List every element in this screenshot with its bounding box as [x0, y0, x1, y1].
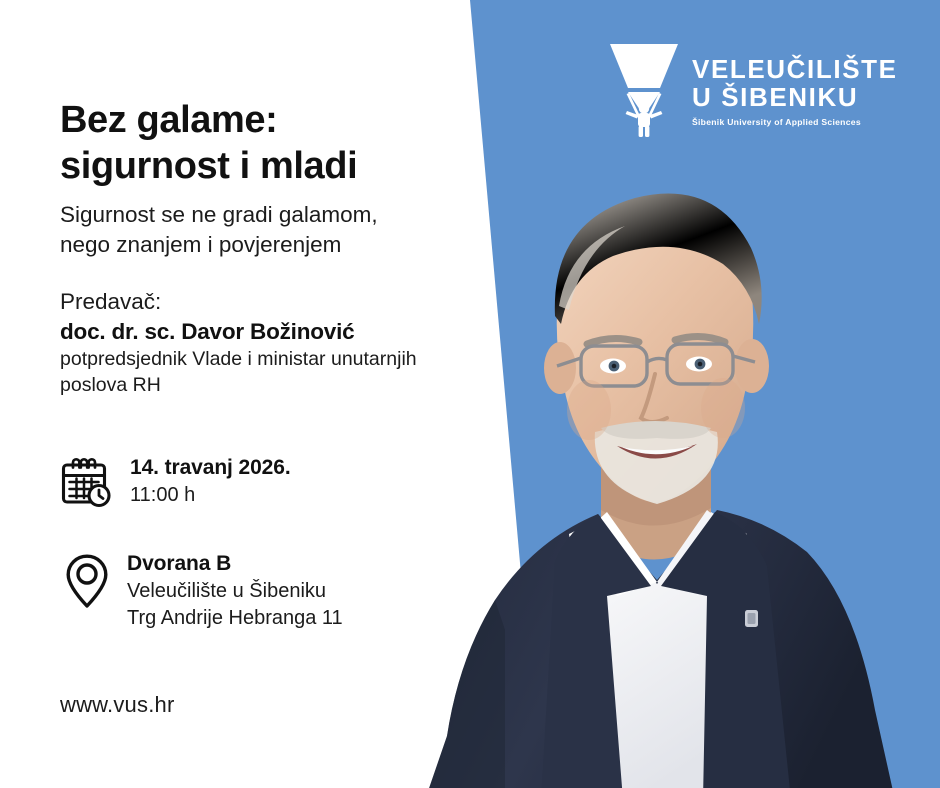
venue-info-row: Dvorana B Veleučilište u Šibeniku Trg An…: [60, 548, 343, 632]
logo-tagline: Šibenik University of Applied Sciences: [692, 117, 898, 127]
map-pin-icon: [65, 553, 109, 609]
calendar-clock-icon: [60, 456, 112, 508]
venue-hall: Dvorana B: [127, 550, 343, 578]
speaker-role: potpredsjednik Vlade i ministar unutarnj…: [60, 347, 417, 398]
logo-text-block: VELEUČILIŠTE U ŠIBENIKU Šibenik Universi…: [692, 38, 898, 127]
logo-line-2: U ŠIBENIKU: [692, 84, 898, 112]
date-text: 14. travanj 2026. 11:00 h: [130, 452, 291, 509]
poster-tagline: Sigurnost se ne gradi galamom, nego znan…: [60, 200, 378, 260]
speaker-label: Predavač:: [60, 287, 417, 317]
logo-line-1: VELEUČILIŠTE: [692, 56, 898, 84]
parachute-figure-logo-icon: [608, 38, 680, 138]
venue-address: Trg Andrije Hebranga 11: [127, 605, 343, 632]
event-date: 14. travanj 2026.: [130, 454, 291, 482]
date-info-row: 14. travanj 2026. 11:00 h: [60, 452, 291, 509]
venue-text: Dvorana B Veleučilište u Šibeniku Trg An…: [127, 548, 343, 632]
event-poster: VELEUČILIŠTE U ŠIBENIKU Šibenik Universi…: [0, 0, 940, 788]
poster-content: Bez galame: sigurnost i mladi Sigurnost …: [60, 0, 480, 788]
poster-headline: Bez galame: sigurnost i mladi: [60, 97, 357, 190]
speaker-name: doc. dr. sc. Davor Božinović: [60, 317, 417, 347]
event-time: 11:00 h: [130, 482, 291, 509]
website-url[interactable]: www.vus.hr: [60, 692, 174, 718]
venue-institution: Veleučilište u Šibeniku: [127, 578, 343, 605]
university-logo: VELEUČILIŠTE U ŠIBENIKU Šibenik Universi…: [608, 38, 898, 138]
speaker-block: Predavač: doc. dr. sc. Davor Božinović p…: [60, 287, 417, 398]
